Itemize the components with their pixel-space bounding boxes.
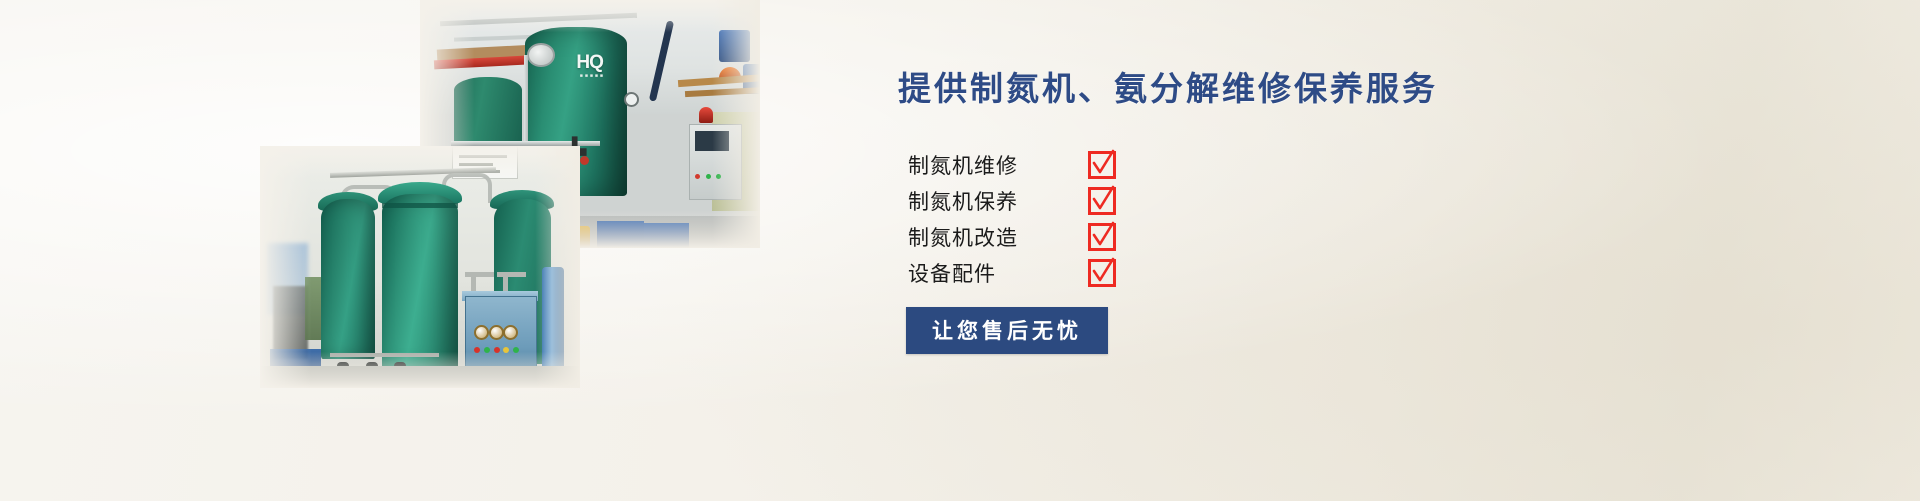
valve-handwheel — [580, 156, 589, 165]
checkbox-checked-icon[interactable] — [1088, 259, 1116, 287]
cabinet-indicator-2 — [484, 347, 490, 353]
service-item-parts[interactable]: 设备配件 — [908, 256, 1520, 289]
blue-filter-column — [542, 267, 564, 381]
service-label: 设备配件 — [908, 258, 1088, 288]
service-label: 制氮机改造 — [908, 222, 1088, 252]
photo-collage: HQ ■■■■■ — [0, 0, 800, 501]
checkbox-checked-icon[interactable] — [1088, 187, 1116, 215]
checkbox-checked-icon[interactable] — [1088, 223, 1116, 251]
blue-tote-2 — [644, 223, 688, 248]
banner-headline: 提供制氮机、氨分解维修保养服务 — [898, 62, 1520, 110]
control-panel-display — [695, 131, 729, 151]
checkbox-checked-icon[interactable] — [1088, 151, 1116, 179]
tank-brand-text: HQ — [576, 52, 603, 74]
service-label: 制氮机保养 — [908, 186, 1088, 216]
alarm-beacon — [699, 107, 713, 123]
panel-led-green-2 — [716, 174, 721, 179]
promo-banner: HQ ■■■■■ — [0, 0, 1920, 501]
cabinet-indicator-3 — [494, 347, 500, 353]
pressure-vessel-center — [382, 194, 459, 373]
nitrogen-plant-vessels-photo — [260, 146, 580, 388]
service-list: 制氮机维修 制氮机保养 制氮机改造 — [908, 148, 1520, 289]
service-item-repair[interactable]: 制氮机维修 — [908, 148, 1520, 181]
tank-flange — [527, 43, 555, 67]
blue-drum — [719, 30, 750, 62]
workshop-floor — [260, 366, 580, 388]
tank-brand-subtext: ■■■■■ — [580, 73, 605, 79]
service-label: 制氮机维修 — [908, 150, 1088, 180]
cabinet-gauge-2 — [489, 325, 504, 340]
panel-led-green — [706, 174, 711, 179]
vessels-photo-scene — [260, 146, 580, 388]
service-item-maintenance[interactable]: 制氮机保养 — [908, 184, 1520, 217]
pressure-gauge-icon — [624, 92, 639, 107]
elbow-pipe — [465, 272, 494, 277]
blue-tote — [597, 221, 645, 248]
after-sales-cta-button[interactable]: 让您售后无忧 — [906, 307, 1108, 354]
lower-pipe-2 — [330, 353, 439, 357]
cabinet-indicator-5 — [513, 347, 519, 353]
banner-content: 提供制氮机、氨分解维修保养服务 制氮机维修 制氮机保养 — [880, 62, 1520, 354]
pressure-vessel-left — [321, 199, 375, 359]
service-item-retrofit[interactable]: 制氮机改造 — [908, 220, 1520, 253]
vessel-band — [382, 203, 459, 208]
dark-cabinet — [273, 286, 308, 359]
elbow-pipe-2 — [497, 272, 526, 277]
